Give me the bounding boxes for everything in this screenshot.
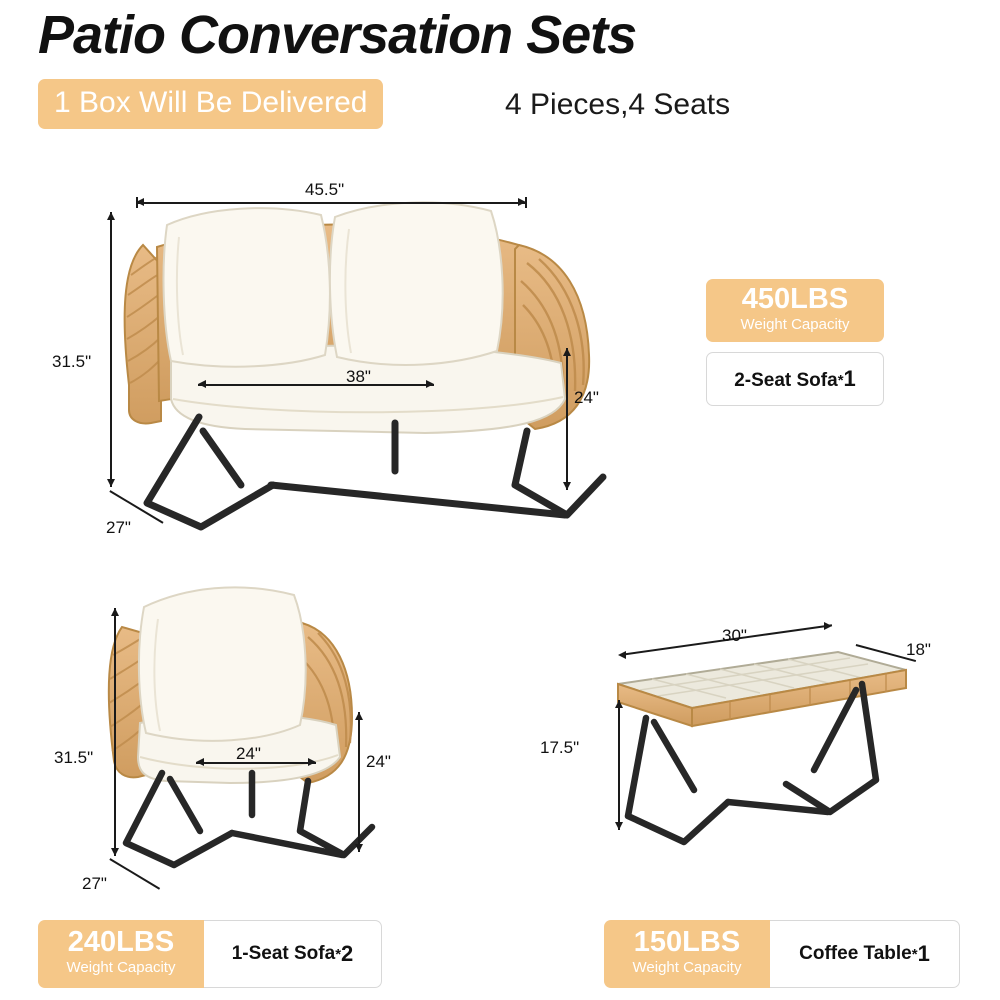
table-width-arrow-right bbox=[824, 622, 832, 630]
sofa2-width-tick-right bbox=[525, 197, 527, 208]
two-seat-sofa-illustration bbox=[95, 185, 695, 555]
chair-seat-width-arrow-left bbox=[196, 758, 204, 766]
table-height-arrow-down bbox=[615, 822, 623, 830]
chair-seat-width-label: 24" bbox=[236, 744, 261, 764]
page-title: Patio Conversation Sets bbox=[38, 4, 636, 66]
sofa2-seat-width-arrow-left bbox=[198, 380, 206, 388]
chair-height-arrow-up bbox=[111, 608, 119, 616]
delivery-badge: 1 Box Will Be Delivered bbox=[38, 79, 383, 129]
table-width-label: 30" bbox=[722, 626, 747, 646]
spec-name-text-table: Coffee Table bbox=[799, 943, 912, 965]
spec-card-one-seat-sofa: 240LBS Weight Capacity 1-Seat Sofa*2 bbox=[38, 920, 382, 988]
spec-qty-table: 1 bbox=[918, 941, 930, 967]
table-height-label: 17.5" bbox=[540, 738, 579, 758]
spec-qty-sofa2: 1 bbox=[844, 366, 856, 391]
table-depth-label: 18" bbox=[906, 640, 931, 660]
table-width-arrow-left bbox=[618, 651, 626, 659]
sofa2-width-label: 45.5" bbox=[305, 180, 344, 200]
pieces-seats-label: 4 Pieces,4 Seats bbox=[505, 88, 730, 122]
sofa2-height-label: 31.5" bbox=[52, 352, 91, 372]
chair-seat-height-arrow-up bbox=[355, 712, 363, 720]
chair-height-label: 31.5" bbox=[54, 748, 93, 768]
sofa2-seat-width-arrow-right bbox=[426, 380, 434, 388]
chair-seat-width-arrow-right bbox=[308, 758, 316, 766]
sofa2-seat-width-label: 38" bbox=[346, 367, 371, 387]
spec-capacity-label-sofa2: Weight Capacity bbox=[720, 315, 870, 335]
sofa2-seat-width-line bbox=[198, 384, 434, 386]
spec-card-coffee-table: 150LBS Weight Capacity Coffee Table*1 bbox=[604, 920, 960, 988]
spec-name-sofa2: 2-Seat Sofa*1 bbox=[706, 352, 884, 406]
sofa2-seat-height-line bbox=[566, 348, 568, 490]
spec-capacity-value-chair: 240LBS bbox=[52, 928, 190, 958]
chair-depth-label: 27" bbox=[82, 874, 107, 894]
spec-capacity-label-chair: Weight Capacity bbox=[52, 958, 190, 978]
spec-capacity-value-table: 150LBS bbox=[618, 928, 756, 958]
spec-capacity-badge-table: 150LBS Weight Capacity bbox=[604, 920, 770, 988]
spec-capacity-badge-sofa2: 450LBS Weight Capacity bbox=[706, 279, 884, 342]
sofa2-depth-label: 27" bbox=[106, 518, 131, 538]
sofa2-height-line bbox=[110, 212, 112, 487]
spec-capacity-value-sofa2: 450LBS bbox=[720, 285, 870, 315]
sofa2-seat-height-label: 24" bbox=[574, 388, 599, 408]
spec-name-text-chair: 1-Seat Sofa bbox=[232, 943, 335, 965]
sofa2-width-line bbox=[136, 202, 526, 204]
chair-seat-height-line bbox=[358, 712, 360, 852]
spec-qty-chair: 2 bbox=[341, 941, 353, 967]
chair-height-arrow-down bbox=[111, 848, 119, 856]
sofa2-seat-height-arrow-up bbox=[563, 348, 571, 356]
spec-card-two-seat-sofa: 450LBS Weight Capacity 2-Seat Sofa*1 bbox=[706, 279, 884, 406]
spec-capacity-badge-chair: 240LBS Weight Capacity bbox=[38, 920, 204, 988]
chair-height-line bbox=[114, 608, 116, 856]
sofa2-width-tick-left bbox=[136, 197, 138, 208]
sofa2-height-arrow-up bbox=[107, 212, 115, 220]
spec-name-table: Coffee Table*1 bbox=[770, 920, 960, 988]
chair-seat-height-label: 24" bbox=[366, 752, 391, 772]
chair-seat-height-arrow-down bbox=[355, 844, 363, 852]
coffee-table-illustration bbox=[600, 630, 920, 880]
sofa2-height-arrow-down bbox=[107, 479, 115, 487]
table-height-arrow-up bbox=[615, 700, 623, 708]
spec-capacity-label-table: Weight Capacity bbox=[618, 958, 756, 978]
table-height-line bbox=[618, 700, 620, 830]
sofa2-seat-height-arrow-down bbox=[563, 482, 571, 490]
product-infographic: Patio Conversation Sets 1 Box Will Be De… bbox=[0, 0, 1000, 1000]
spec-name-text-sofa2: 2-Seat Sofa bbox=[734, 370, 837, 391]
spec-name-chair: 1-Seat Sofa*2 bbox=[204, 920, 382, 988]
